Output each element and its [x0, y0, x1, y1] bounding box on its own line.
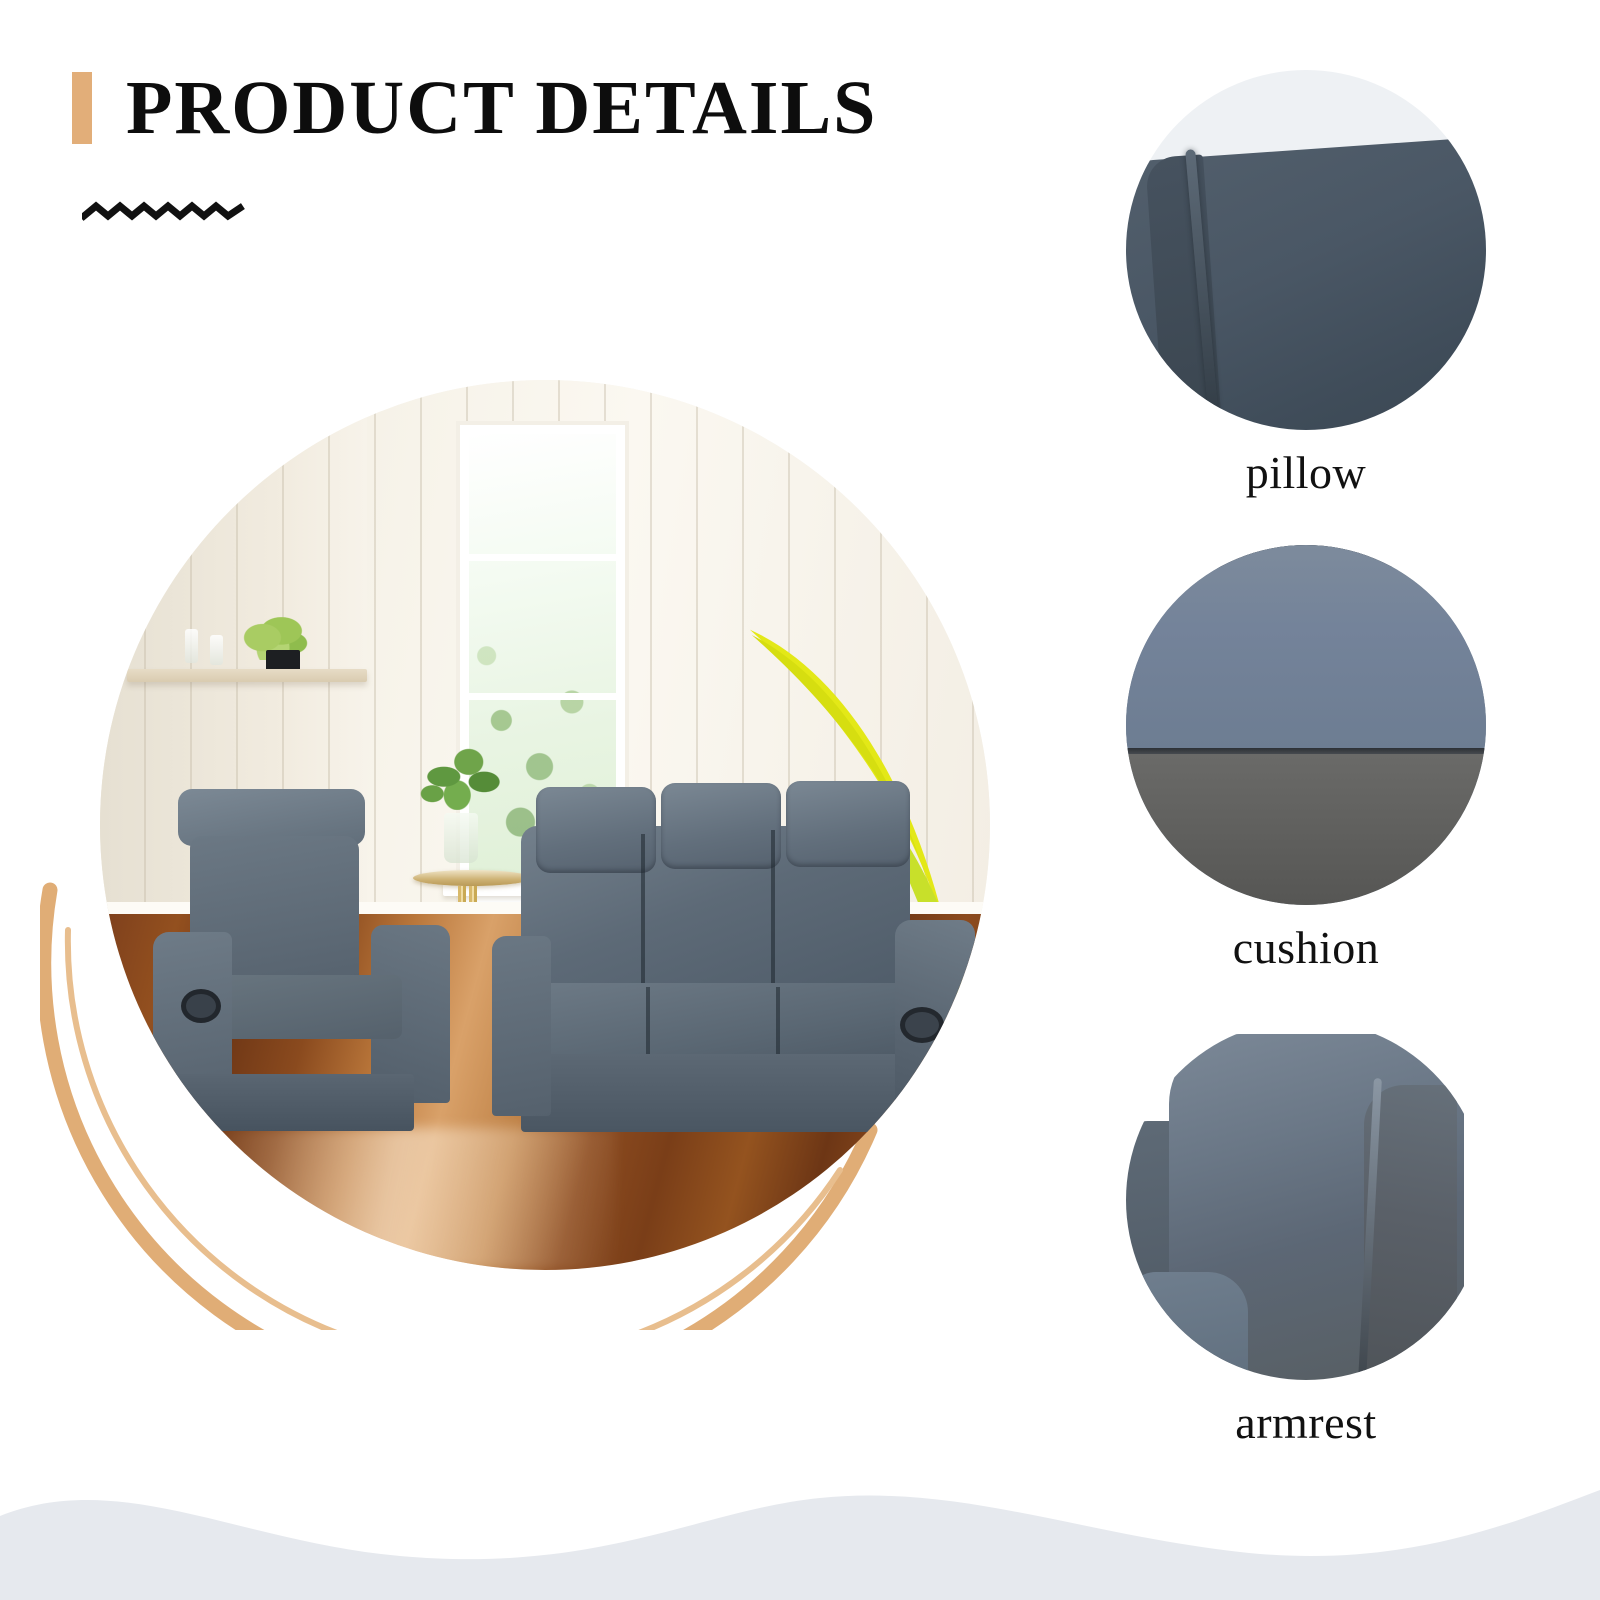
- detail-item-pillow: pillow: [1086, 70, 1526, 499]
- sofa-base: [521, 1054, 910, 1132]
- chair-recliner-handle-icon: [181, 989, 221, 1023]
- hero-image-block: [40, 330, 1040, 1330]
- sofa-seam: [641, 834, 645, 998]
- detail-label-pillow: pillow: [1086, 446, 1526, 499]
- detail-callouts: pillow cushion armrest: [1086, 70, 1526, 1495]
- page-title: PRODUCT DETAILS: [126, 70, 877, 146]
- hero-room-photo: [100, 380, 990, 1270]
- wavy-line-icon: [82, 198, 252, 224]
- footer-wave: [0, 1450, 1600, 1600]
- shelf-vase: [185, 629, 198, 663]
- cushion-closeup-icon: [1126, 545, 1486, 905]
- sofa-recliner-handle-icon: [900, 1007, 944, 1043]
- shelf-vase: [210, 635, 223, 665]
- armrest-closeup-icon: [1126, 1020, 1486, 1380]
- sofa-headrest: [536, 787, 656, 873]
- sofa-seam: [771, 830, 775, 994]
- sofa-headrest: [786, 781, 911, 867]
- pillow-closeup-icon: [1126, 70, 1486, 430]
- detail-label-cushion: cushion: [1086, 921, 1526, 974]
- wall-shelf: [127, 669, 367, 682]
- sofa-headrest: [661, 783, 781, 869]
- detail-item-armrest: armrest: [1086, 1020, 1526, 1449]
- reclining-sofa: [492, 772, 990, 1164]
- page-header: PRODUCT DETAILS: [72, 70, 972, 229]
- detail-item-cushion: cushion: [1086, 545, 1526, 974]
- recliner-armchair: [153, 789, 456, 1145]
- title-row: PRODUCT DETAILS: [72, 70, 972, 146]
- window-mullion: [467, 554, 618, 561]
- detail-label-armrest: armrest: [1086, 1396, 1526, 1449]
- sofa-armrest-left: [492, 936, 552, 1116]
- chair-base: [165, 1074, 413, 1131]
- window-mullion: [467, 693, 618, 700]
- accent-bar-icon: [72, 72, 92, 144]
